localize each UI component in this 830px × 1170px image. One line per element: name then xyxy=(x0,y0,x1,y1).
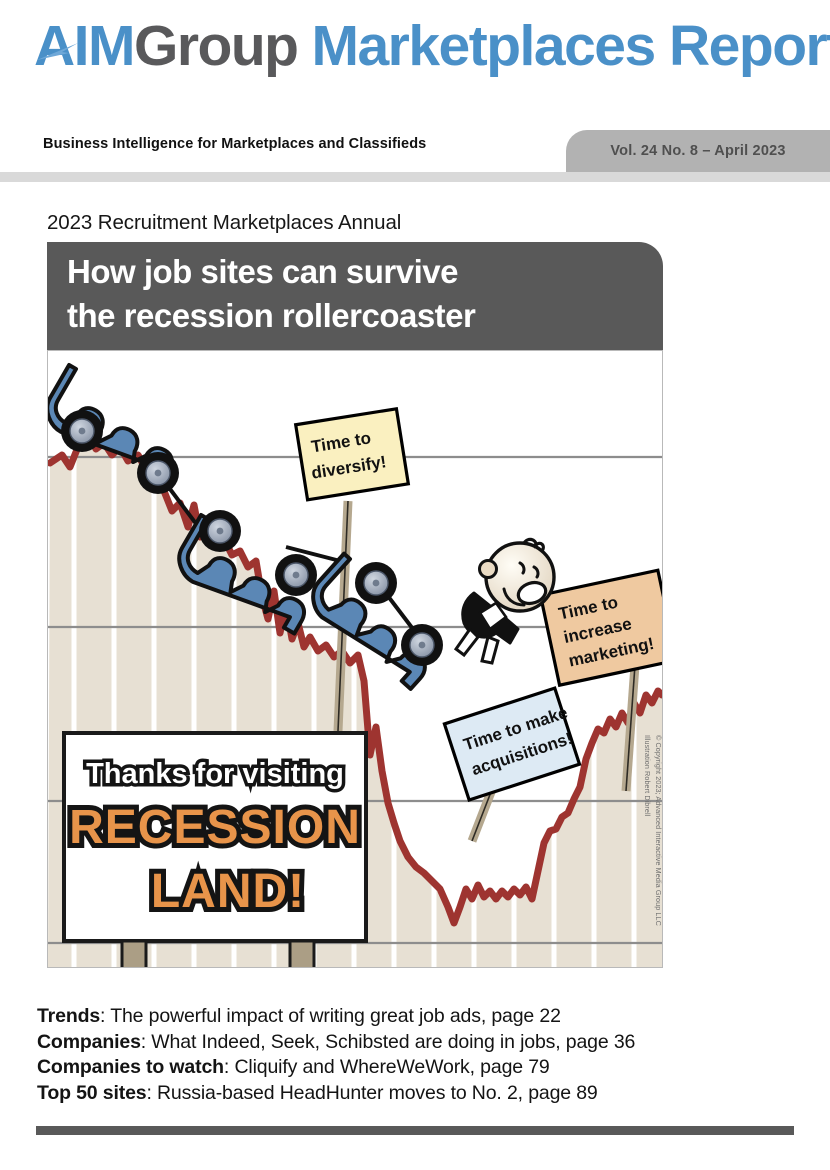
billboard-line2: RECESSION xyxy=(69,801,361,854)
volume-badge: Vol. 24 No. 8 – April 2023 xyxy=(566,130,830,172)
toc-text-trends: : The powerful impact of writing great j… xyxy=(100,1005,561,1027)
masthead: AIMGroupMarketplaces Report xyxy=(0,0,830,118)
brand-logo: AIMGroupMarketplaces Report xyxy=(34,18,830,75)
toc-label-companies: Companies xyxy=(37,1031,141,1053)
illustration-credit: © Copyright 2023; Advanced Interactive M… xyxy=(642,735,664,965)
billboard-line3: LAND! xyxy=(151,865,305,918)
brand-aim-text: AIM xyxy=(34,14,134,78)
masthead-divider xyxy=(0,172,830,182)
footer-bar xyxy=(36,1126,794,1135)
credit-copyright: © Copyright 2023; Advanced Interactive M… xyxy=(653,735,664,965)
cover-headline-box: How job sites can survive the recession … xyxy=(47,242,663,350)
volume-badge-label: Vol. 24 No. 8 – April 2023 xyxy=(610,143,785,159)
toc-text-top-50-sites: : Russia-based HeadHunter moves to No. 2… xyxy=(146,1082,597,1104)
toc-label-companies-to-watch: Companies to watch xyxy=(37,1056,224,1078)
toc-label-top-50-sites: Top 50 sites xyxy=(37,1082,146,1104)
cover-headline-line1: How job sites can survive xyxy=(67,253,458,291)
brand-publication-title: Marketplaces Report xyxy=(311,14,830,78)
toc-text-companies-to-watch: : Cliquify and WhereWeWork, page 79 xyxy=(224,1056,550,1078)
credit-illustrator: Illustration Robert Dibrell xyxy=(642,735,653,965)
toc-item-trends[interactable]: Trends: The powerful impact of writing g… xyxy=(37,1004,797,1030)
toc-item-companies[interactable]: Companies: What Indeed, Seek, Schibsted … xyxy=(37,1030,797,1056)
brand-group: Group xyxy=(134,14,297,78)
cover-kicker: 2023 Recruitment Marketplaces Annual xyxy=(47,211,401,235)
toc-text-companies: : What Indeed, Seek, Schibsted are doing… xyxy=(141,1031,635,1053)
recession-land-billboard: Thanks for visiting RECESSION LAND! xyxy=(64,733,366,967)
cover-illustration: Time to increase marketing! Time to make… xyxy=(47,350,663,968)
cover-headline-line2: the recession rollercoaster xyxy=(67,297,475,335)
flying-character xyxy=(456,539,554,663)
toc-label-trends: Trends xyxy=(37,1005,100,1027)
recession-rollercoaster-illustration: Time to increase marketing! Time to make… xyxy=(48,351,662,967)
tagline: Business Intelligence for Marketplaces a… xyxy=(43,136,426,152)
toc-item-companies-to-watch[interactable]: Companies to watch: Cliquify and WhereWe… xyxy=(37,1055,797,1081)
billboard-line1: Thanks for visiting xyxy=(86,758,344,790)
table-of-contents: Trends: The powerful impact of writing g… xyxy=(37,1004,797,1106)
brand-aim: AIM xyxy=(34,18,134,75)
toc-item-top-50-sites[interactable]: Top 50 sites: Russia-based HeadHunter mo… xyxy=(37,1081,797,1107)
